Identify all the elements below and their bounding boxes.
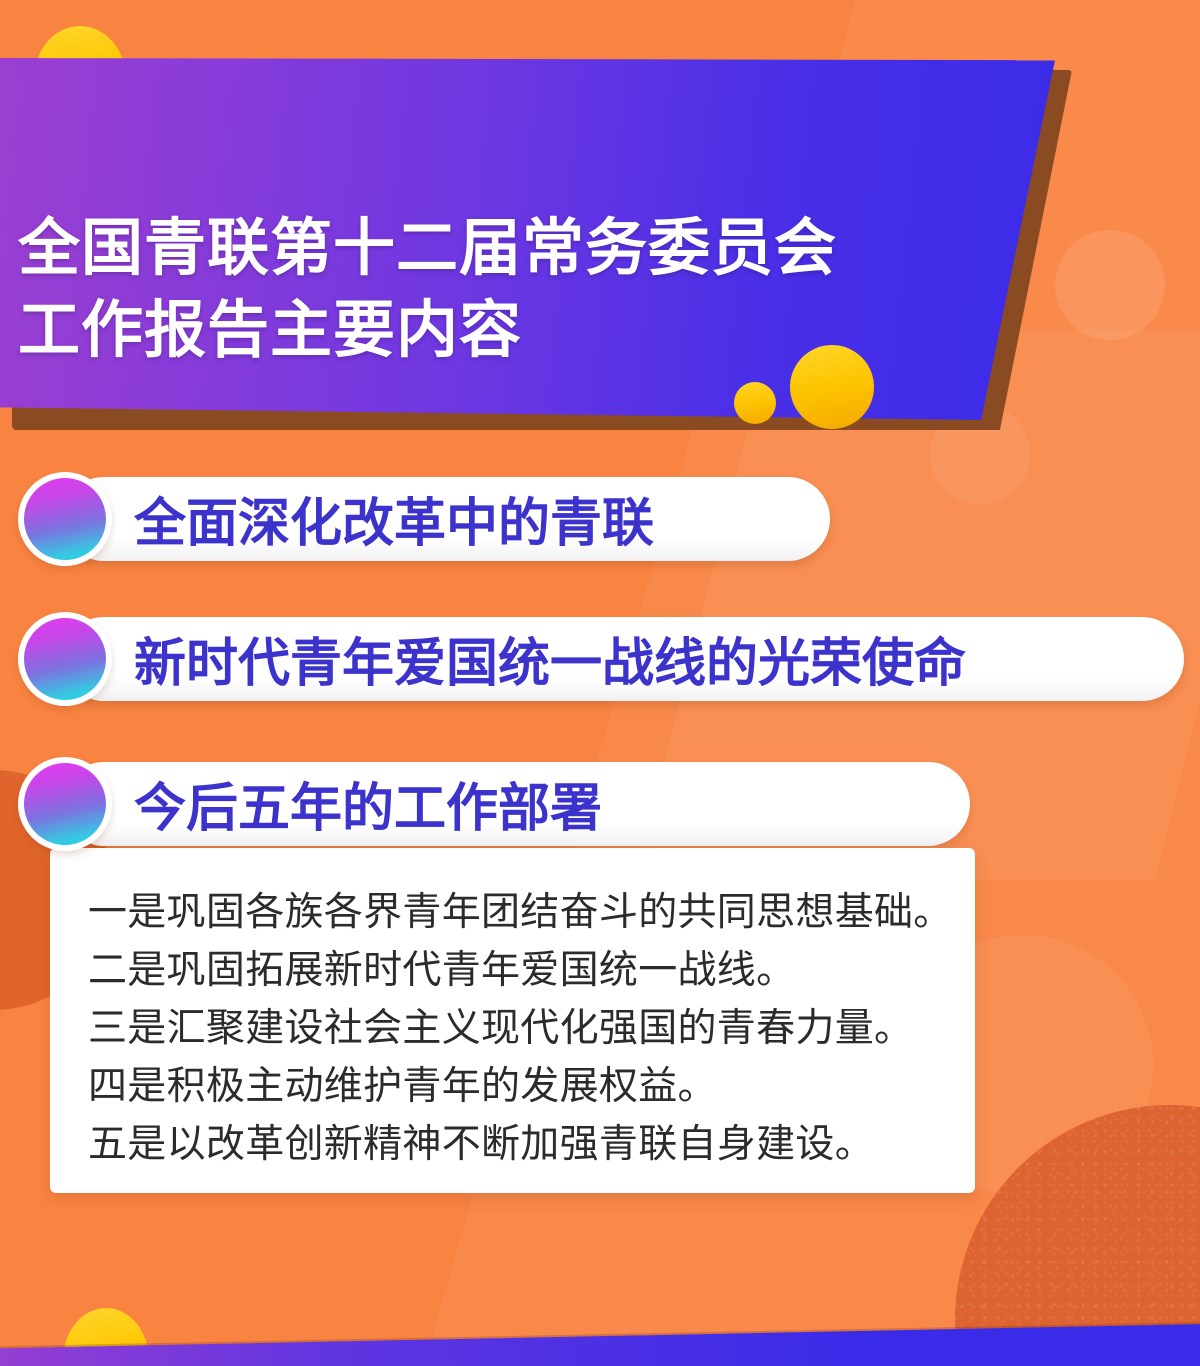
section-label-1: 全面深化改革中的青联 [134, 498, 654, 550]
content-list-item: 二是巩固拓展新时代青年爱国统一战线。 [88, 942, 941, 1000]
yellow-dot-banner-large-icon [790, 345, 874, 429]
page-title-line-1: 全国青联第十二届常务委员会 [18, 208, 1028, 290]
page-title-line-2: 工作报告主要内容 [18, 290, 1028, 372]
section-label-2: 新时代青年爱国统一战线的光荣使命 [134, 638, 966, 690]
section-row-3[interactable]: 今后五年的工作部署 [0, 762, 1060, 856]
content-list: 一是巩固各族各界青年团结奋斗的共同思想基础。 二是巩固拓展新时代青年爱国统一战线… [88, 884, 941, 1175]
section-label-3: 今后五年的工作部署 [134, 783, 602, 835]
page-title: 全国青联第十二届常务委员会 工作报告主要内容 [18, 208, 1028, 372]
yellow-dot-banner-small-icon [734, 382, 776, 424]
section-row-2[interactable]: 新时代青年爱国统一战线的光荣使命 [0, 617, 1200, 711]
content-card: 一是巩固各族各界青年团结奋斗的共同思想基础。 二是巩固拓展新时代青年爱国统一战线… [50, 848, 975, 1193]
gradient-circle-bullet-icon [18, 757, 112, 851]
gradient-circle-bullet-icon [18, 612, 112, 706]
bottom-gradient-strip [0, 1323, 1200, 1366]
header-banner: 全国青联第十二届常务委员会 工作报告主要内容 [0, 58, 1090, 438]
section-row-1[interactable]: 全面深化改革中的青联 [0, 477, 1060, 571]
content-list-item: 三是汇聚建设社会主义现代化强国的青春力量。 [88, 1000, 941, 1058]
content-list-item: 四是积极主动维护青年的发展权益。 [88, 1058, 941, 1116]
infographic-poster: 全国青联第十二届常务委员会 工作报告主要内容 全面深化改革中的青联 新时代青年爱… [0, 0, 1200, 1366]
gradient-circle-bullet-icon [18, 472, 112, 566]
content-list-item: 一是巩固各族各界青年团结奋斗的共同思想基础。 [88, 884, 941, 942]
content-list-item: 五是以改革创新精神不断加强青联自身建设。 [88, 1116, 941, 1174]
